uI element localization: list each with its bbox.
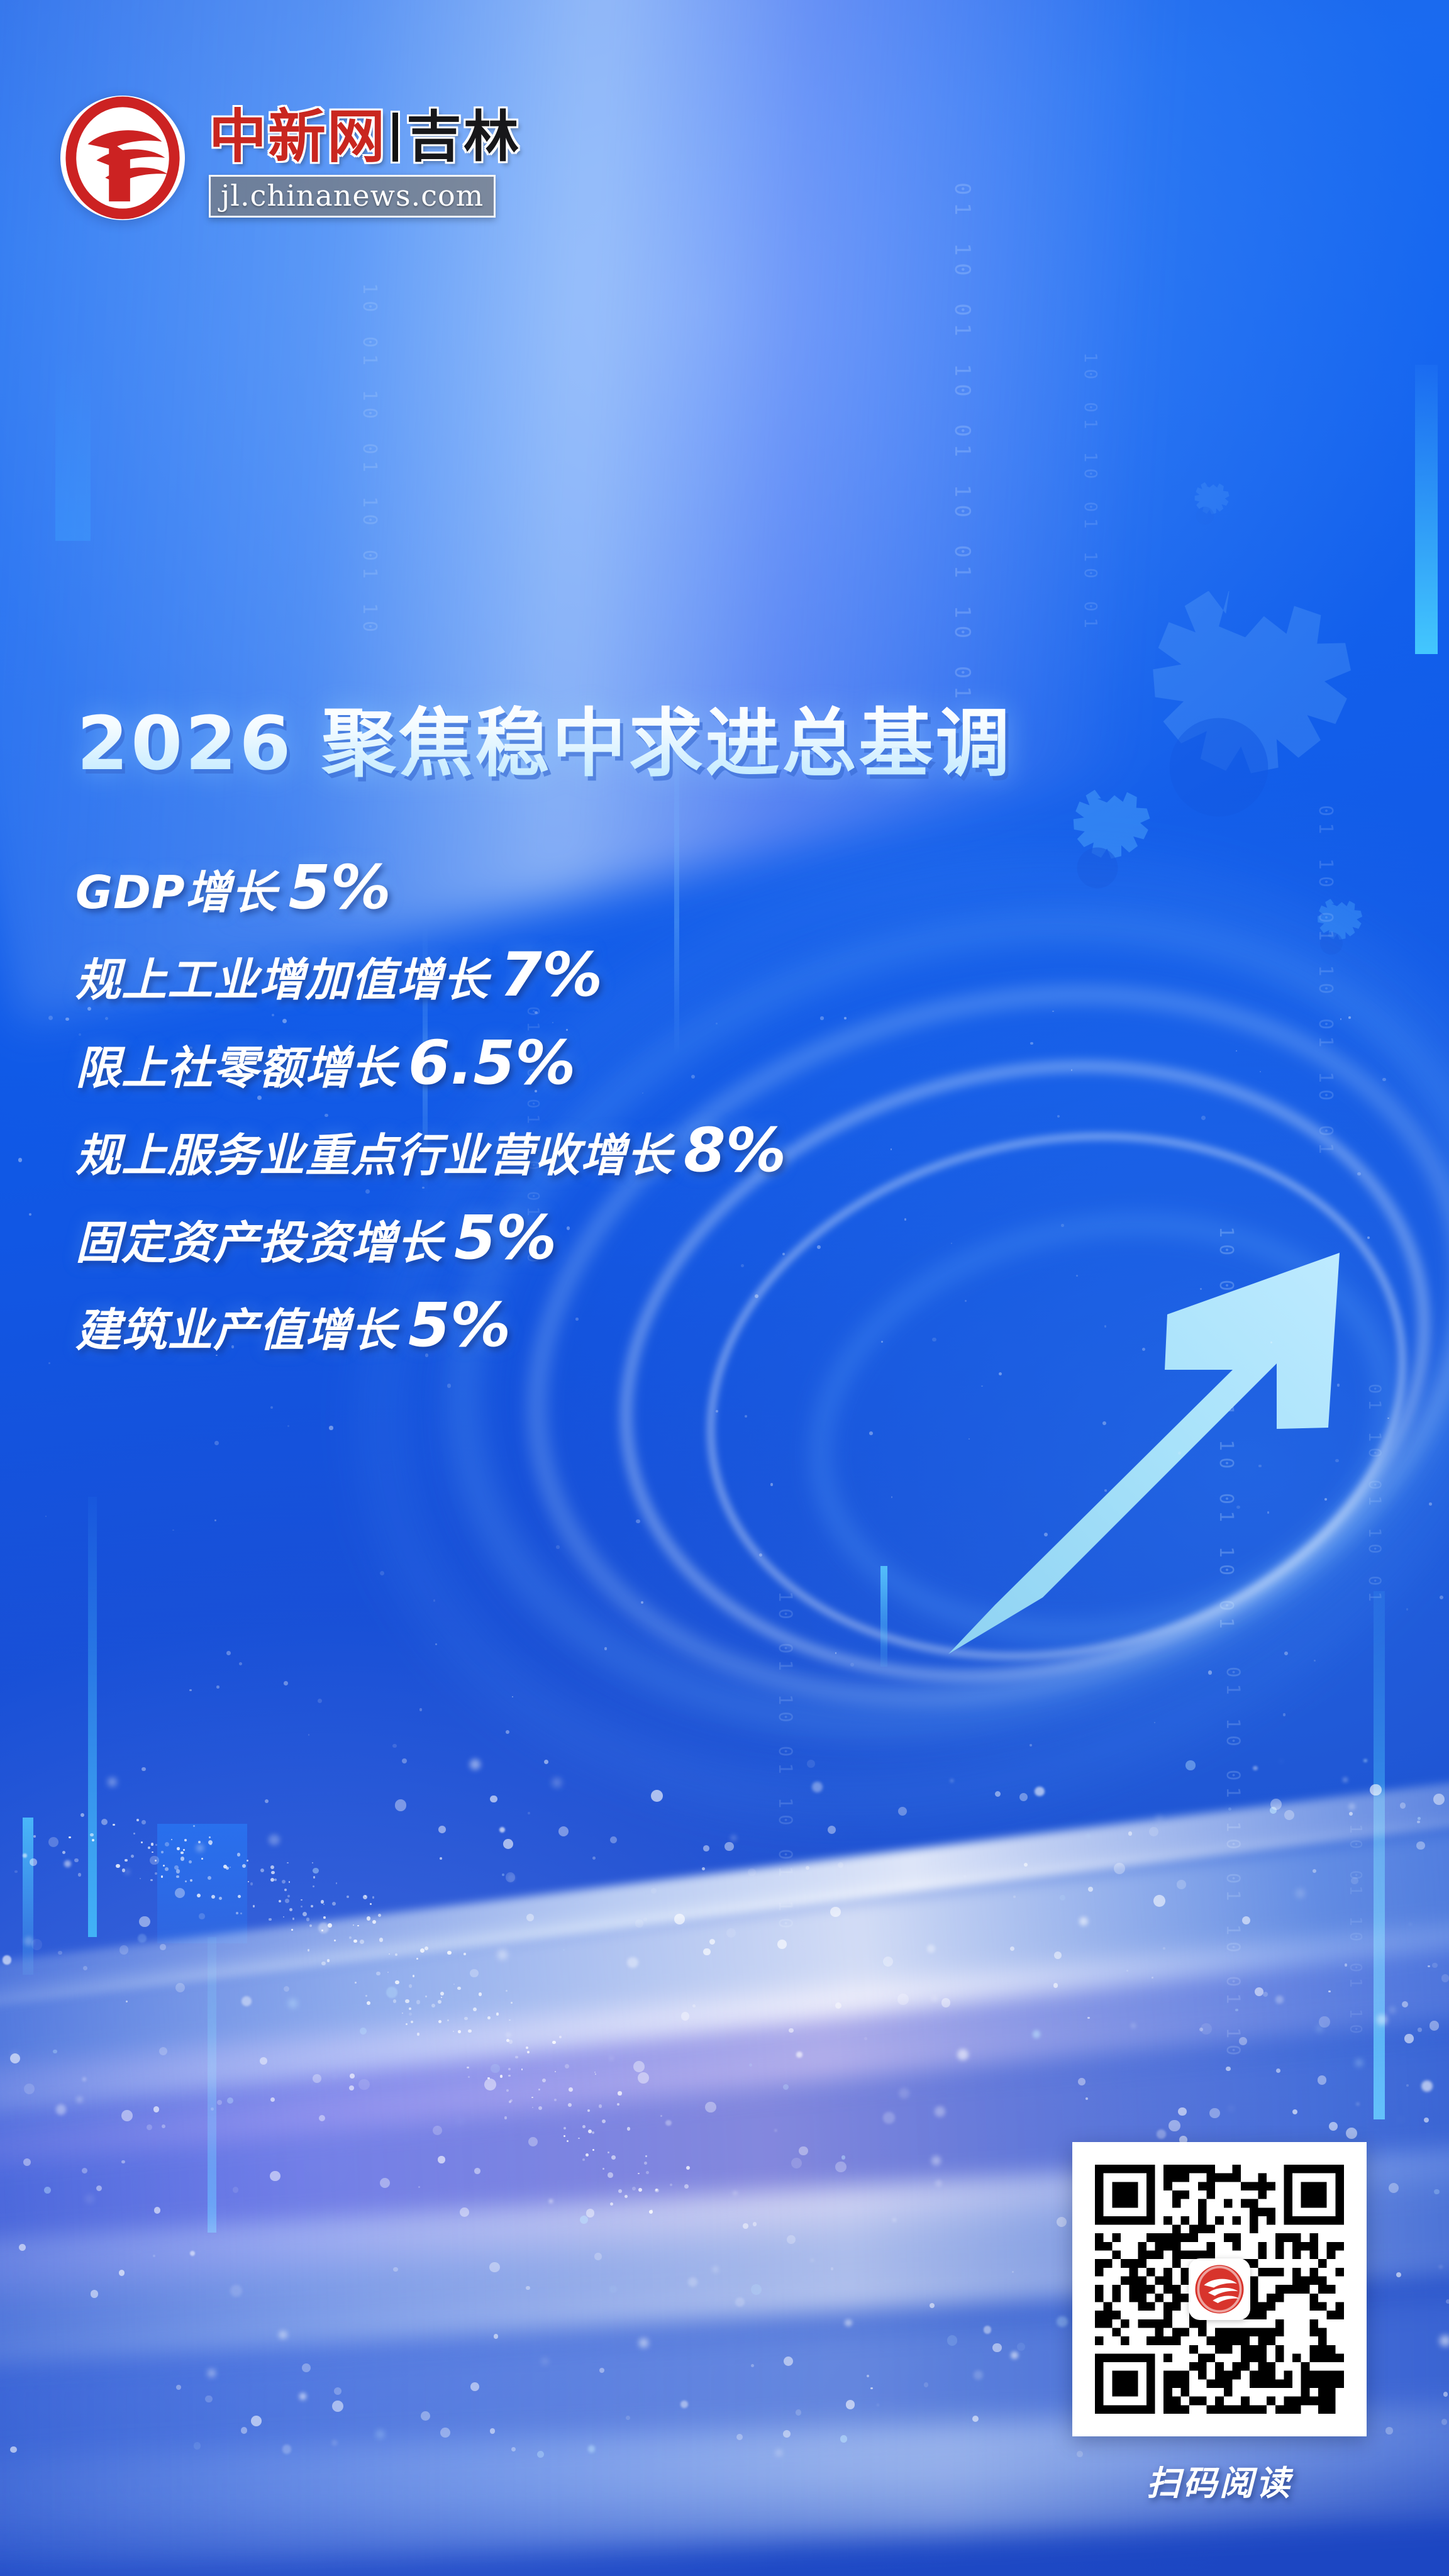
particle <box>1011 2351 1018 2359</box>
particle <box>1406 1608 1408 1610</box>
particle <box>806 1866 809 1870</box>
particle <box>703 1845 709 1851</box>
particle <box>239 1662 242 1665</box>
brand-text-group: 中新网 吉林 jl.chinanews.com <box>209 96 521 218</box>
particle <box>1313 1869 1316 1873</box>
particle <box>328 1923 332 1928</box>
particle <box>751 2364 754 2367</box>
particle <box>126 2001 128 2002</box>
particle <box>1128 1831 1132 1835</box>
particle <box>62 1851 65 1854</box>
particle <box>292 1918 295 1920</box>
particle <box>1440 1596 1443 1599</box>
particle <box>595 2074 596 2075</box>
particle <box>655 2189 658 2191</box>
stat-row: 规上工业增加值增长7% <box>75 940 1057 1011</box>
stat-label: 规上服务业重点行业营收增长 <box>75 1126 672 1184</box>
particle <box>674 1914 685 1924</box>
particle <box>161 1851 163 1853</box>
particle <box>713 2267 718 2272</box>
particle <box>176 1869 180 1874</box>
accent-bar <box>88 1497 97 1937</box>
particle <box>470 2382 479 2391</box>
particle <box>419 1708 422 1711</box>
particle <box>190 2251 195 2256</box>
particle <box>1399 2118 1402 2122</box>
particle <box>1200 1288 1202 1290</box>
particle <box>447 1951 452 1955</box>
qr-code[interactable] <box>1072 2142 1367 2436</box>
particle <box>238 1895 241 1898</box>
particle <box>1270 1341 1272 1343</box>
brand-header: 中新网 吉林 jl.chinanews.com <box>60 96 521 220</box>
particle <box>899 2088 909 2099</box>
particle <box>289 1881 291 1883</box>
particle <box>838 1862 843 1868</box>
particle <box>365 1896 366 1897</box>
particle <box>139 1916 150 1928</box>
particle <box>594 2072 596 2073</box>
particle <box>733 2191 737 2195</box>
particle <box>308 1949 310 1951</box>
particle <box>147 2124 152 2130</box>
particle <box>1316 2026 1323 2032</box>
particle <box>604 1647 608 1650</box>
particle <box>1085 2097 1088 2100</box>
particle <box>484 2079 496 2090</box>
particle <box>636 1519 640 1523</box>
binary-code-column: 01 10 01 10 01 <box>1365 1384 1384 1607</box>
particle <box>269 1835 280 1846</box>
particle <box>487 2016 491 2019</box>
particle <box>148 1846 150 1849</box>
particle <box>927 1945 935 1953</box>
particle <box>230 2285 242 2297</box>
particle <box>558 1826 569 1836</box>
particle <box>588 2445 596 2453</box>
particle <box>511 2447 516 2451</box>
particle <box>411 2021 413 2023</box>
particle <box>716 1410 719 1413</box>
particle <box>611 2155 616 2160</box>
particle <box>468 2029 471 2033</box>
particle <box>635 1919 643 1927</box>
particle <box>555 2071 556 2072</box>
particle <box>379 1938 383 1941</box>
particle <box>1440 2335 1449 2346</box>
particle <box>413 1975 414 1977</box>
accent-bar <box>23 1818 33 1975</box>
particle <box>508 2068 511 2071</box>
particle <box>306 1918 310 1921</box>
particle <box>131 1855 134 1858</box>
particle <box>1208 1670 1213 1675</box>
light-streak <box>0 1738 1449 2029</box>
particle <box>556 1545 559 1548</box>
particle <box>425 1996 427 1997</box>
particle <box>1429 1502 1432 1506</box>
particle <box>796 2409 801 2415</box>
particle <box>580 2216 588 2224</box>
particle <box>611 2057 613 2059</box>
particle <box>201 1858 203 1860</box>
particle <box>211 1895 215 1899</box>
particle <box>563 2135 565 2137</box>
particle <box>655 2189 659 2193</box>
particle <box>883 2112 894 2123</box>
particle <box>435 1643 437 1645</box>
particle <box>587 2109 590 2112</box>
particle <box>327 1959 330 1962</box>
particle <box>759 1553 762 1557</box>
particle <box>347 1896 349 1898</box>
particle <box>506 1872 515 1882</box>
particle <box>751 2284 762 2295</box>
particle <box>287 1425 289 1427</box>
particle <box>284 1889 287 1891</box>
light-streak <box>0 1781 1449 2138</box>
particle <box>850 1663 854 1667</box>
particle <box>165 1842 169 1846</box>
stat-label: 固定资产投资增长 <box>75 1214 443 1272</box>
particle <box>783 2430 791 2438</box>
particle <box>138 1934 147 1943</box>
particle <box>23 2158 31 2166</box>
particle <box>458 2118 464 2124</box>
particle <box>791 2158 802 2168</box>
particle <box>1114 1863 1125 1874</box>
particle <box>749 2063 752 2067</box>
particle <box>282 1880 286 1884</box>
particle <box>494 2334 498 2338</box>
particle <box>279 1900 281 1902</box>
particle <box>313 1868 318 1874</box>
particle <box>372 1920 376 1924</box>
particle <box>491 2064 500 2074</box>
particle <box>1276 2068 1280 2073</box>
particle <box>1275 1996 1284 2004</box>
stat-row: 限上社零额增长6.5% <box>75 1028 1057 1099</box>
particle <box>508 1874 515 1882</box>
particle <box>253 1905 255 1907</box>
particle <box>586 2153 589 2157</box>
particle <box>357 1925 359 1927</box>
particle <box>1087 1834 1090 1837</box>
particle <box>175 1888 185 1898</box>
particle <box>924 2382 929 2387</box>
stat-label: 建筑业产值增长 <box>75 1301 397 1359</box>
particle <box>1343 1778 1347 1782</box>
particle <box>189 1689 191 1691</box>
particle <box>882 1960 887 1965</box>
particle <box>1201 2023 1212 2035</box>
particle <box>775 2449 782 2456</box>
particle <box>686 2166 690 2170</box>
particle <box>665 2120 672 2126</box>
particle <box>1439 2265 1442 2268</box>
particle <box>83 1966 88 1971</box>
particle <box>447 2019 449 2021</box>
particle <box>651 2209 653 2211</box>
particle <box>651 1888 657 1894</box>
particle <box>185 1880 187 1882</box>
particle <box>745 1415 747 1418</box>
particle <box>499 1827 505 1833</box>
particle <box>125 1859 127 1862</box>
particle <box>784 2357 793 2366</box>
particle <box>189 1860 192 1863</box>
particle <box>367 1916 370 1920</box>
particle <box>53 2050 57 2054</box>
particle <box>24 2084 35 2094</box>
particle <box>331 2440 338 2446</box>
particle <box>1430 2021 1440 2031</box>
particle <box>1267 1511 1269 1513</box>
particle <box>743 2223 748 2229</box>
particle <box>334 1940 336 1941</box>
particle <box>196 1845 204 1852</box>
stat-label: 限上社零额增长 <box>75 1039 397 1097</box>
particle <box>972 2416 979 2422</box>
particle <box>141 1841 143 1843</box>
particle <box>474 2168 480 2174</box>
particle <box>1054 1951 1062 1959</box>
particle <box>360 2028 367 2035</box>
particle <box>1335 1459 1338 1462</box>
particle <box>582 2158 585 2161</box>
particle <box>864 2037 867 2040</box>
particle <box>974 2370 983 2380</box>
particle <box>504 2116 507 2119</box>
particle <box>241 2427 247 2433</box>
particle <box>638 2188 642 2192</box>
particle <box>831 2267 833 2270</box>
particle <box>1263 1992 1268 1997</box>
particle <box>1060 1895 1065 1901</box>
gear-icon <box>1167 478 1243 553</box>
particle <box>1385 2427 1393 2434</box>
particle <box>506 1730 509 1734</box>
particle <box>1319 2016 1330 2027</box>
particle <box>48 1837 58 1847</box>
particle <box>867 2375 870 2378</box>
particle <box>433 2126 442 2135</box>
particle <box>1324 1498 1327 1501</box>
particle <box>950 1779 953 1782</box>
particle <box>1441 1974 1449 1982</box>
particle <box>845 2319 852 2326</box>
particle <box>260 1868 264 1872</box>
particle <box>748 1868 756 1877</box>
particle <box>470 1969 479 1978</box>
particle <box>241 1996 252 2006</box>
particle <box>645 2155 647 2157</box>
accent-bar <box>1415 365 1438 654</box>
particle <box>1446 2299 1449 2304</box>
particle <box>284 1681 287 1685</box>
particle <box>376 1972 380 1976</box>
particle <box>735 2297 745 2307</box>
particle <box>177 1847 179 1850</box>
particle <box>783 2084 789 2090</box>
particle <box>1154 1722 1155 1723</box>
particle <box>489 2262 499 2272</box>
accent-bar <box>157 1824 247 1943</box>
particle <box>995 1791 1001 1797</box>
particle <box>947 2335 957 2345</box>
particle <box>515 2056 518 2058</box>
particle <box>633 2061 645 2072</box>
particle <box>30 1858 37 1866</box>
particle <box>508 2075 511 2077</box>
particle <box>1010 1946 1014 1951</box>
particle <box>618 2189 622 2193</box>
particle <box>19 2244 26 2251</box>
particle <box>1088 1887 1093 1892</box>
particle <box>265 1799 269 1803</box>
particle <box>559 2036 562 2038</box>
particle <box>526 2286 530 2290</box>
light-ribbon <box>0 0 1449 548</box>
particle <box>271 1871 275 1875</box>
particle <box>1357 1172 1361 1176</box>
particle <box>796 2051 802 2058</box>
particle <box>274 1879 277 1881</box>
particle <box>395 1799 406 1811</box>
particle <box>692 2004 696 2007</box>
particle <box>10 2446 16 2453</box>
particle <box>360 1940 364 1944</box>
particle <box>1236 1050 1237 1052</box>
stat-value: 5% <box>289 852 391 923</box>
particle <box>230 1867 231 1868</box>
particle <box>1418 2028 1421 2031</box>
particle <box>828 1826 836 1834</box>
particle <box>406 2023 408 2025</box>
particle <box>108 1778 116 1786</box>
particle <box>1382 1078 1386 1082</box>
particle <box>150 1856 158 1865</box>
particle <box>1209 2108 1220 2119</box>
particle <box>121 2110 133 2121</box>
particle <box>1185 1760 1196 1770</box>
particle <box>122 1868 125 1872</box>
particle <box>835 2162 846 2172</box>
binary-code-column: 01 10 01 10 01 10 01 10 01 <box>950 182 975 706</box>
particle <box>1443 2392 1448 2397</box>
particle <box>969 1438 970 1440</box>
light-ribbon <box>0 0 1449 525</box>
particle <box>321 1900 324 1903</box>
qr-caption: 扫码阅读 <box>1072 2455 1367 2505</box>
particle <box>811 2259 814 2262</box>
particle <box>160 1944 165 1950</box>
brand-url-badge: jl.chinanews.com <box>209 175 496 218</box>
particle <box>216 1685 219 1689</box>
particle <box>116 1864 120 1868</box>
particle <box>237 1853 241 1857</box>
particle <box>44 2187 51 2194</box>
particle <box>625 2195 628 2198</box>
particle <box>552 1778 562 1787</box>
particle <box>153 2255 155 2257</box>
particle <box>1406 2084 1409 2087</box>
gear-icon <box>1043 591 1395 943</box>
particle <box>1296 1889 1304 1897</box>
particle <box>705 2102 716 2113</box>
particle <box>453 2031 454 2032</box>
particle <box>77 2097 82 2102</box>
particle <box>1053 1983 1058 1987</box>
particle <box>935 2180 943 2187</box>
particle <box>670 2184 672 2186</box>
particle <box>638 2072 649 2084</box>
particle <box>563 2127 567 2130</box>
particle <box>372 1896 375 1899</box>
particle <box>627 2127 631 2131</box>
particle <box>1284 1652 1288 1655</box>
particle <box>438 2156 445 2163</box>
particle <box>350 2074 355 2079</box>
particle <box>649 2210 653 2214</box>
light-ribbon <box>0 0 1449 555</box>
particle <box>1057 2217 1067 2227</box>
accent-bar <box>208 1937 216 2233</box>
particle <box>142 1767 145 1771</box>
particle <box>389 1953 390 1955</box>
particle <box>227 2097 233 2104</box>
particle <box>151 1843 153 1845</box>
particle <box>333 2075 336 2079</box>
particle <box>1057 2316 1068 2328</box>
particle <box>532 2107 533 2108</box>
particle <box>309 1924 312 1927</box>
particle <box>155 1872 157 1875</box>
particle <box>497 1950 508 1960</box>
particle <box>681 2012 689 2020</box>
particle <box>957 2049 969 2060</box>
stat-list: GDP增长5%规上工业增加值增长7%限上社零额增长6.5%规上服务业重点行业营收… <box>75 852 1057 1362</box>
particle <box>370 1903 372 1905</box>
particle <box>549 2199 553 2203</box>
particle <box>283 1916 284 1918</box>
particle <box>176 1875 179 1879</box>
particle <box>509 2040 513 2044</box>
particle <box>1131 2023 1136 2028</box>
stat-row: GDP增长5% <box>75 852 1057 923</box>
particle <box>554 2099 557 2101</box>
particle <box>205 2396 213 2403</box>
binary-code-column: 10 01 10 01 10 01 10 <box>775 1591 796 1935</box>
particle <box>299 2393 306 2400</box>
particle <box>1024 1863 1028 1867</box>
particle <box>684 2184 689 2189</box>
particle <box>544 1760 548 1764</box>
particle <box>1230 2107 1233 2110</box>
brand-url-text: jl.chinanews.com <box>221 179 484 213</box>
particle <box>285 1899 289 1902</box>
particle <box>1199 2028 1203 2031</box>
particle <box>503 1839 513 1849</box>
particle <box>457 1987 460 1990</box>
particle <box>1357 2103 1358 2105</box>
particle <box>1328 1990 1330 1992</box>
particle <box>1417 1821 1419 1823</box>
particle <box>470 1759 480 1770</box>
particle <box>1255 1987 1263 1996</box>
particle <box>1235 2009 1238 2012</box>
particle <box>1078 2078 1085 2085</box>
